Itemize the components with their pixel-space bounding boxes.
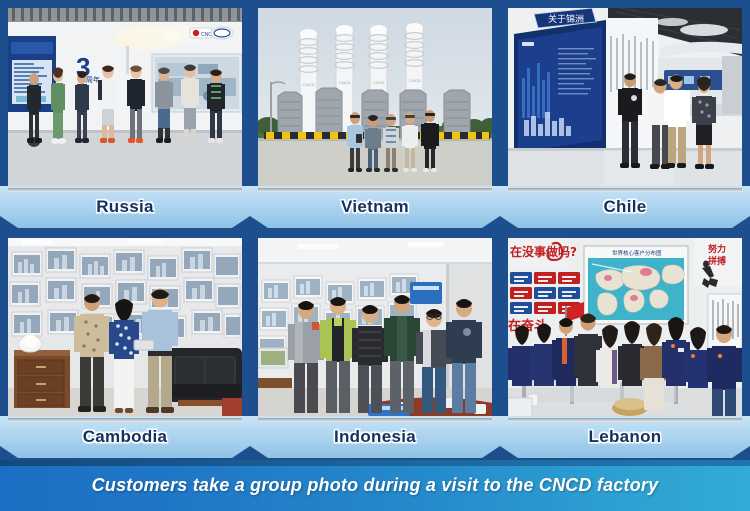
svg-text:在没事做吗?: 在没事做吗? [510,244,577,259]
label-bar-cambodia: Cambodia [0,416,250,458]
chile-group-photo: 关于锦洲 [508,8,742,188]
label-bar-chile: Chile [500,186,750,228]
lebanon-group-photo: 在没事做吗? [508,238,742,418]
country-label: Vietnam [341,197,409,217]
country-label: Lebanon [589,427,662,447]
country-label: Russia [96,197,154,217]
label-bar-russia: Russia [0,186,250,228]
caption-bar: Customers take a group photo during a vi… [0,460,750,511]
label-bar-lebanon: Lebanon [500,416,750,458]
label-top-rule [508,188,742,192]
svg-text:拼搏: 拼搏 [708,255,726,267]
svg-text:CNCD: CNCD [409,78,421,83]
gallery-card-cambodia[interactable]: Cambodia [0,230,250,460]
gallery-row-1: 3 周年 CNCD [0,0,750,230]
label-top-rule [8,188,242,192]
label-top-rule [8,418,242,422]
label-bar-vietnam: Vietnam [250,186,500,228]
gallery-row-2: Cambodia [0,230,750,460]
svg-text:世界核心客户分布图: 世界核心客户分布图 [612,249,662,257]
country-label: Cambodia [83,427,168,447]
svg-text:CNCD: CNCD [373,80,385,85]
caption-text: Customers take a group photo during a vi… [92,475,659,496]
label-bar-indonesia: Indonesia [250,416,500,458]
vietnam-group-photo: CNCD CNCD [258,8,492,188]
label-top-rule [508,418,742,422]
country-label: Chile [603,197,646,217]
gallery-card-russia[interactable]: 3 周年 CNCD [0,0,250,230]
cambodia-group-photo [8,238,242,418]
svg-text:努力: 努力 [708,243,726,255]
country-label: Indonesia [334,427,416,447]
svg-text:周年: 周年 [86,75,100,84]
label-top-rule [258,418,492,422]
gallery-card-vietnam[interactable]: CNCD CNCD [250,0,500,230]
svg-text:关于锦洲: 关于锦洲 [548,13,584,25]
gallery-card-chile[interactable]: 关于锦洲 [500,0,750,230]
gallery-card-indonesia[interactable]: Indonesia [250,230,500,460]
indonesia-group-photo [258,238,492,418]
gallery-card-lebanon[interactable]: 在没事做吗? [500,230,750,460]
svg-text:CNCD: CNCD [339,80,351,85]
label-top-rule [258,188,492,192]
svg-text:CNCD: CNCD [303,82,315,87]
photo-gallery: 3 周年 CNCD [0,0,750,460]
russia-group-photo: 3 周年 CNCD [8,8,242,188]
